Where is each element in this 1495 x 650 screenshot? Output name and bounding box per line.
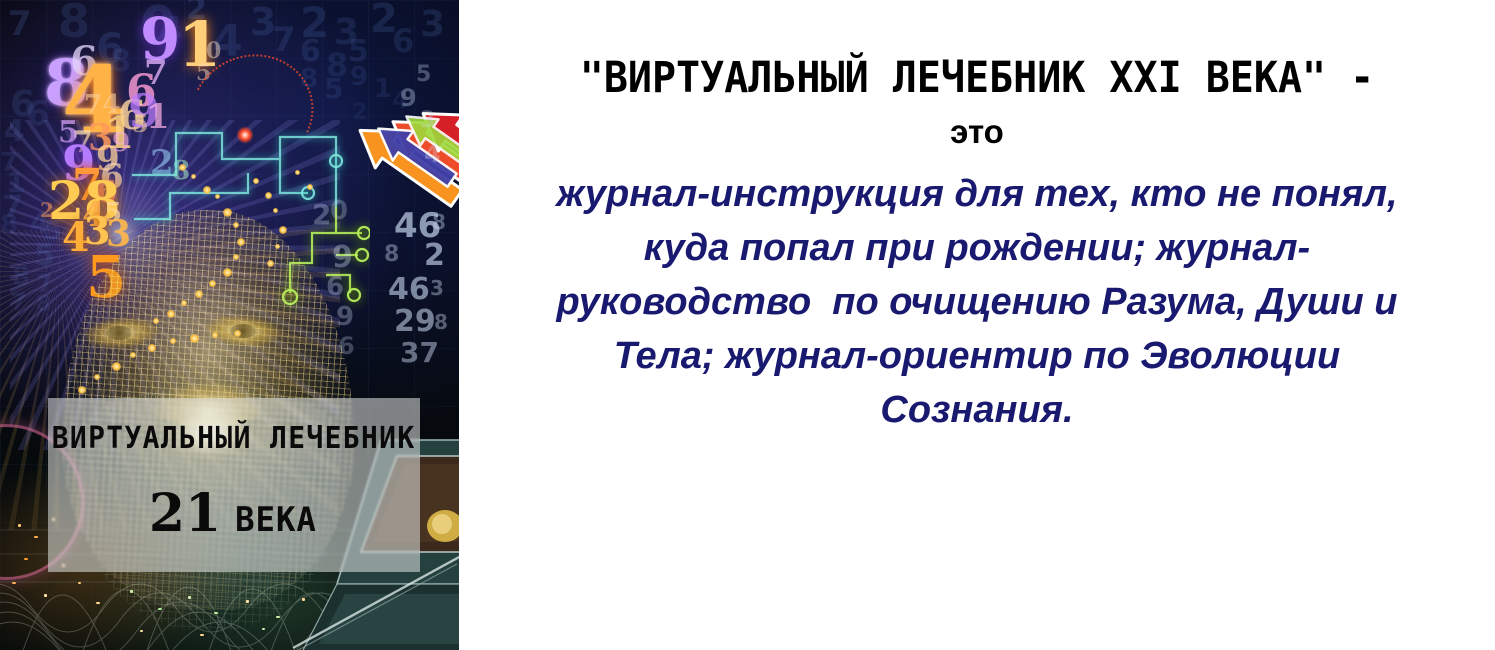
- cover-title-plate: ВИРТУАЛЬНЫЙ ЛЕЧЕБНИК 21 ВЕКА: [48, 398, 420, 572]
- description-line: куда попал при рождении; журнал-: [493, 222, 1461, 276]
- cover-year-word: ВЕКА: [235, 503, 317, 537]
- description-line: Сознания.: [493, 384, 1461, 438]
- description-line: журнал-инструкция для тех, кто не понял,: [493, 168, 1461, 222]
- description-panel: "ВИРТУАЛЬНЫЙ ЛЕЧЕБНИК XXI ВЕКА" - это жу…: [459, 0, 1495, 650]
- cover-title-text: ВИРТУАЛЬНЫЙ ЛЕЧЕБНИК: [52, 424, 416, 454]
- promo-banner: 7 8 6 0 4 2 4 3 7 2 3 2 6 3 8 6 6 4 7 1 …: [0, 0, 1495, 650]
- description-line: Тела; журнал-ориентир по Эволюции: [493, 330, 1461, 384]
- subtitle-text: это: [493, 111, 1461, 152]
- cover-year-group: 21 ВЕКА: [149, 488, 319, 540]
- description-line: руководство по очищению Разума, Души и: [493, 276, 1461, 330]
- description-text: журнал-инструкция для тех, кто не понял,…: [493, 168, 1461, 438]
- cover-year-number: 21: [149, 488, 221, 540]
- magazine-cover-image: 7 8 6 0 4 2 4 3 7 2 3 2 6 3 8 6 6 4 7 1 …: [0, 0, 459, 650]
- page-title: "ВИРТУАЛЬНЫЙ ЛЕЧЕБНИК XXI ВЕКА" -: [527, 56, 1427, 101]
